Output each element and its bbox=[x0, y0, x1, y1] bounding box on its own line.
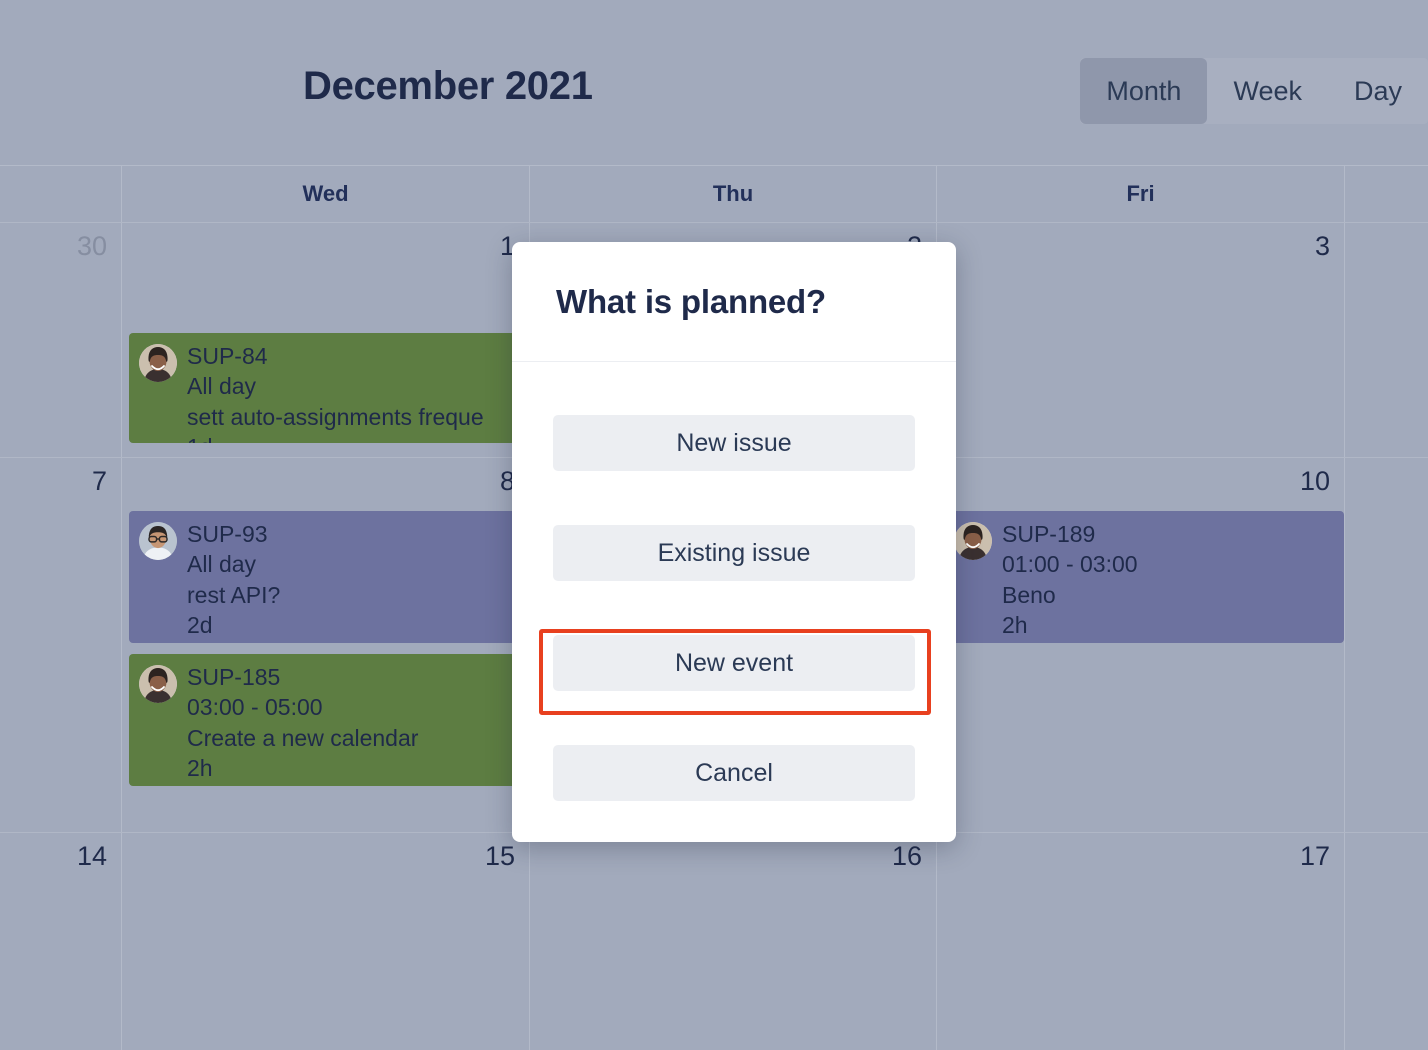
day-number: 10 bbox=[1300, 466, 1330, 497]
day-cell-overflow-2[interactable] bbox=[1345, 458, 1428, 832]
what-is-planned-dialog: What is planned? New issue Existing issu… bbox=[512, 242, 956, 842]
top-bar: December 2021 Month Week Day bbox=[0, 0, 1428, 165]
event-details: SUP-185 03:00 - 05:00 Create a new calen… bbox=[187, 662, 418, 776]
event-key: SUP-189 bbox=[1002, 519, 1138, 549]
dow-cell-blank-left bbox=[0, 166, 122, 222]
event-key: SUP-84 bbox=[187, 341, 484, 371]
page-title: December 2021 bbox=[303, 64, 593, 109]
event-summary: rest API? bbox=[187, 580, 280, 610]
calendar-event-sup-189[interactable]: SUP-189 01:00 - 03:00 Beno 2h bbox=[944, 511, 1344, 643]
day-cell-16[interactable]: 16 bbox=[530, 833, 937, 1050]
day-cell-3[interactable]: 3 bbox=[937, 223, 1345, 457]
day-cell-7[interactable]: 7 bbox=[0, 458, 122, 832]
event-summary: Beno bbox=[1002, 580, 1138, 610]
event-duration: 2d bbox=[187, 610, 280, 640]
day-number: 30 bbox=[77, 231, 107, 262]
event-summary: sett auto-assignments freque bbox=[187, 402, 484, 432]
event-details: SUP-93 All day rest API? 2d bbox=[187, 519, 280, 633]
view-button-day[interactable]: Day bbox=[1328, 58, 1428, 124]
dow-cell-thu: Thu bbox=[530, 166, 937, 222]
event-time: 03:00 - 05:00 bbox=[187, 692, 418, 722]
day-number: 17 bbox=[1300, 841, 1330, 872]
day-number: 3 bbox=[1315, 231, 1330, 262]
view-button-month[interactable]: Month bbox=[1080, 58, 1207, 124]
day-number: 7 bbox=[92, 466, 107, 497]
avatar bbox=[139, 665, 177, 703]
dow-cell-wed: Wed bbox=[122, 166, 530, 222]
day-cell-overflow-1[interactable] bbox=[1345, 223, 1428, 457]
day-number: 14 bbox=[77, 841, 107, 872]
event-time: 01:00 - 03:00 bbox=[1002, 549, 1138, 579]
day-of-week-header: Wed Thu Fri bbox=[0, 165, 1428, 223]
existing-issue-button[interactable]: Existing issue bbox=[553, 525, 915, 581]
avatar bbox=[954, 522, 992, 560]
avatar bbox=[139, 344, 177, 382]
new-event-button[interactable]: New event bbox=[553, 635, 915, 691]
dow-cell-fri: Fri bbox=[937, 166, 1345, 222]
avatar bbox=[139, 522, 177, 560]
day-cell-14[interactable]: 14 bbox=[0, 833, 122, 1050]
event-duration: 1d bbox=[187, 432, 484, 443]
dialog-title: What is planned? bbox=[556, 283, 826, 321]
day-number: 15 bbox=[485, 841, 515, 872]
new-issue-button[interactable]: New issue bbox=[553, 415, 915, 471]
event-details: SUP-84 All day sett auto-assignments fre… bbox=[187, 341, 484, 433]
dialog-header: What is planned? bbox=[512, 242, 956, 362]
event-duration: 2h bbox=[1002, 610, 1138, 640]
event-duration: 2h bbox=[187, 753, 418, 783]
view-button-week[interactable]: Week bbox=[1207, 58, 1328, 124]
event-key: SUP-93 bbox=[187, 519, 280, 549]
event-summary: Create a new calendar bbox=[187, 723, 418, 753]
event-time: All day bbox=[187, 549, 280, 579]
dialog-body: New issue Existing issue New event Cance… bbox=[512, 362, 956, 801]
week-row-3: 14 15 16 17 SD-14 bbox=[0, 833, 1428, 1050]
day-cell-17[interactable]: 17 bbox=[937, 833, 1345, 1050]
dow-cell-blank-right bbox=[1345, 166, 1428, 222]
event-time: All day bbox=[187, 371, 484, 401]
day-cell-30[interactable]: 30 bbox=[0, 223, 122, 457]
day-cell-15[interactable]: 15 bbox=[122, 833, 530, 1050]
day-cell-overflow-3[interactable] bbox=[1345, 833, 1428, 1050]
event-key: SUP-185 bbox=[187, 662, 418, 692]
calendar-event-sup-185[interactable]: SUP-185 03:00 - 05:00 Create a new calen… bbox=[129, 654, 537, 786]
view-switcher: Month Week Day bbox=[1080, 58, 1428, 124]
day-number: 16 bbox=[892, 841, 922, 872]
event-details: SUP-189 01:00 - 03:00 Beno 2h bbox=[1002, 519, 1138, 633]
cancel-button[interactable]: Cancel bbox=[553, 745, 915, 801]
